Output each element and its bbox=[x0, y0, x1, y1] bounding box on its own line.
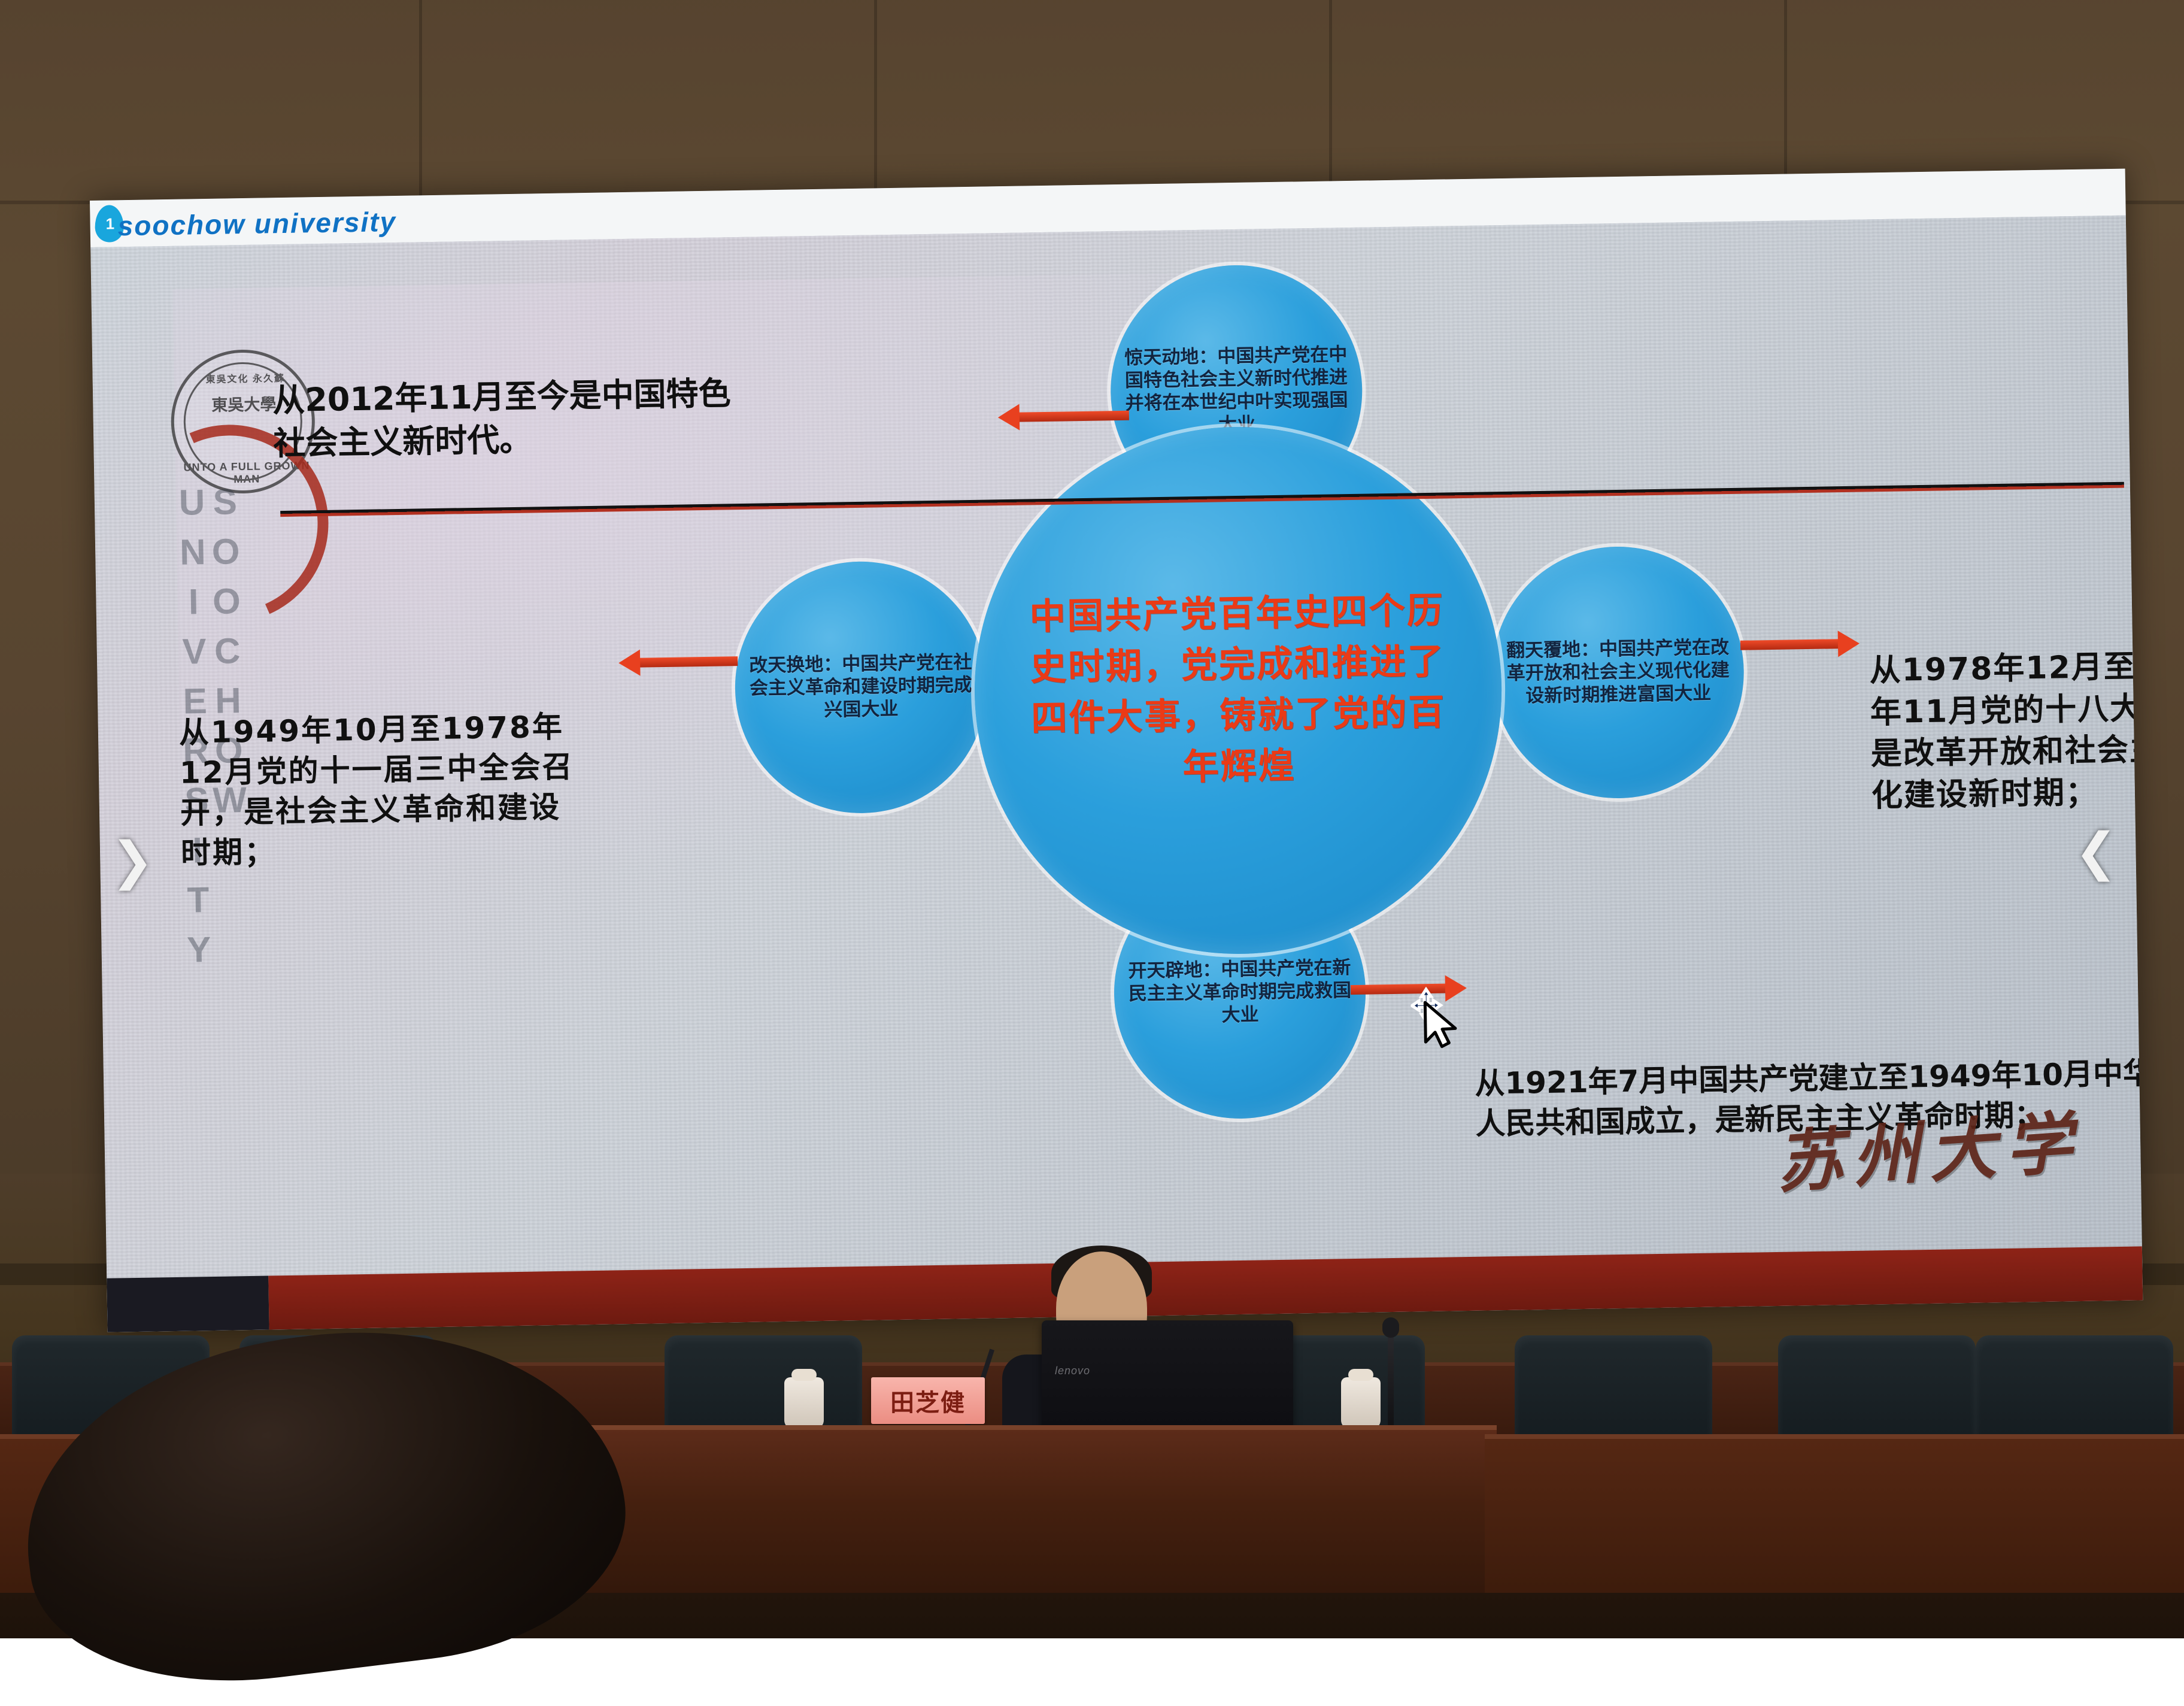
podium-desk-right bbox=[1485, 1434, 2184, 1593]
name-card-label: 田芝健 bbox=[890, 1383, 966, 1418]
bubble-right-text: 翻天覆地：中国共产党在改革开放和社会主义现代化建设新时期推进富国大业 bbox=[1492, 637, 1745, 708]
annotation-right: 从1978年12月至2012年11月党的十八大召开，是改革开放和社会主义现代化建… bbox=[1869, 644, 2143, 817]
bubble-left-text: 改天换地：中国共产党在社会主义革命和建设时期完成兴国大业 bbox=[735, 652, 987, 723]
arrow-to-left-annotation bbox=[639, 656, 738, 668]
wall-seam bbox=[874, 0, 877, 204]
laptop[interactable]: lenovo bbox=[1042, 1320, 1293, 1440]
bubble-right[interactable]: 翻天覆地：中国共产党在改革开放和社会主义现代化建设新时期推进富国大业 bbox=[1490, 545, 1746, 801]
arrow-to-right-annotation bbox=[1740, 639, 1839, 650]
brand-badge-label: 1 bbox=[105, 214, 114, 233]
tea-cup bbox=[784, 1377, 824, 1429]
annotation-top: 从2012年11月至今是中国特色社会主义新时代。 bbox=[272, 372, 735, 466]
microphone-right bbox=[1388, 1331, 1394, 1438]
annotation-left: 从1949年10月至1978年12月党的十一届三中全会召开，是社会主义革命和建设… bbox=[178, 707, 588, 874]
brand-title: soochow university bbox=[117, 205, 396, 242]
arrow-to-top-annotation bbox=[1018, 411, 1129, 422]
prev-slide-chevron-icon[interactable]: ❯ bbox=[111, 835, 154, 887]
podium-desk-center bbox=[527, 1425, 1497, 1593]
lecture-hall-room: 1 soochow university 東吳文化 永久蘇 東吳大學 UNTO … bbox=[0, 0, 2184, 1638]
calligraphy-watermark: 苏州大学 bbox=[1772, 1089, 2085, 1206]
name-card: 田芝健 bbox=[871, 1377, 985, 1424]
slide-footer-dark bbox=[107, 1276, 269, 1332]
tea-cup bbox=[1341, 1377, 1381, 1429]
projection-screen[interactable]: 1 soochow university 東吳文化 永久蘇 東吳大學 UNTO … bbox=[90, 169, 2143, 1332]
bubble-top-text: 惊天动地：中国共产党在中国特色社会主义新时代推进并将在本世纪中叶实现强国大业 bbox=[1110, 344, 1363, 438]
slide-canvas: 東吳文化 永久蘇 東吳大學 UNTO A FULL GROWN MAN SOOC… bbox=[90, 216, 2143, 1332]
center-bubble-text: 中国共产党百年史四个历史时期，党完成和推进了四件大事，铸就了党的百年辉煌 bbox=[973, 584, 1503, 797]
mouse-cursor-move-icon bbox=[1410, 986, 1466, 1053]
bubble-bottom-text: 开天辟地：中国共产党在新民主主义革命时期完成救国大业 bbox=[1114, 957, 1366, 1029]
wall-seam bbox=[1329, 0, 1332, 204]
laptop-brand-label: lenovo bbox=[1055, 1365, 1090, 1377]
vertical-watermark: SOOCHOW UNIVERSITY bbox=[175, 481, 254, 1331]
wall-seam bbox=[1784, 0, 1787, 204]
wall-seam bbox=[419, 0, 422, 204]
next-slide-chevron-icon[interactable]: ❮ bbox=[2074, 826, 2118, 878]
